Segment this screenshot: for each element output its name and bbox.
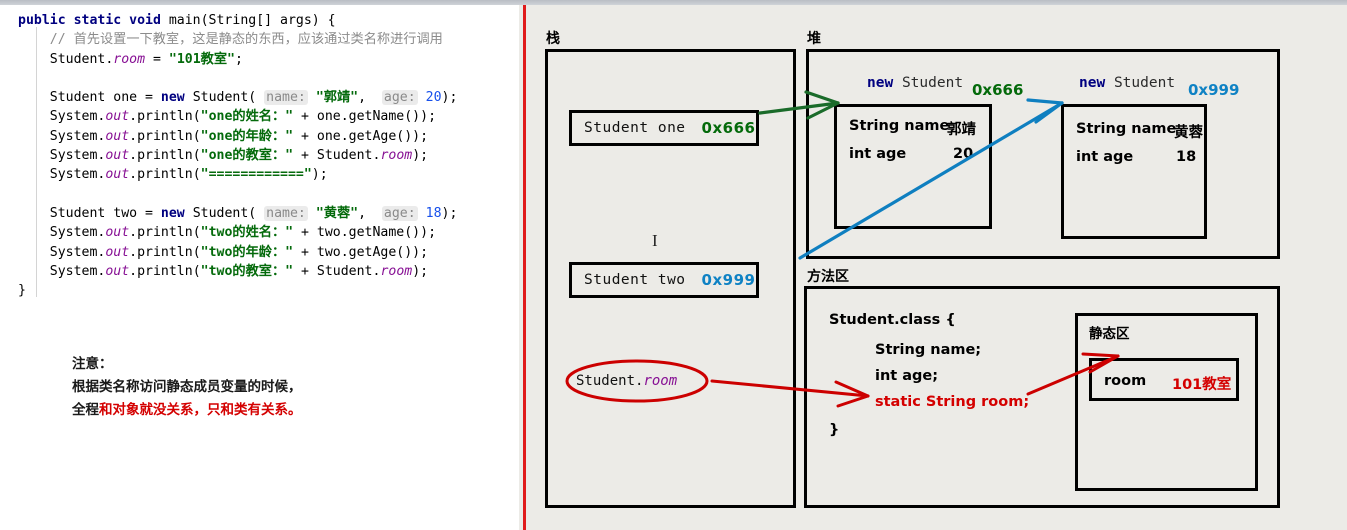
class-declaration: Student.class { xyxy=(829,312,956,328)
code-token: name: xyxy=(264,206,308,221)
code-token: .println( xyxy=(129,264,200,279)
code-token: "one的教室：" xyxy=(201,148,293,163)
code-token: Student one = xyxy=(18,90,161,105)
class-member-name: String name; xyxy=(875,342,981,358)
code-line[interactable]: System.out.println("two的年龄：" + two.getAg… xyxy=(18,243,518,262)
code-token: = xyxy=(145,52,169,67)
code-token: ); xyxy=(312,167,328,182)
code-token: out xyxy=(105,148,129,163)
code-token: .println( xyxy=(129,129,200,144)
code-token: out xyxy=(105,225,129,240)
code-token: out xyxy=(105,167,129,182)
code-token: "101教室" xyxy=(169,52,235,67)
code-token xyxy=(308,206,316,221)
code-token: System. xyxy=(18,129,105,144)
note-title: 注意： xyxy=(72,353,302,376)
stack-zone-label: 栈 xyxy=(546,28,560,48)
heap-obj-1-new-label: new Student xyxy=(867,75,963,91)
code-token: + one.getAge()); xyxy=(293,129,428,144)
heap-obj-2-new-label: new Student xyxy=(1079,75,1175,91)
stack-var-two-name: Student two xyxy=(584,272,686,288)
code-token: "黄蓉" xyxy=(316,206,358,221)
code-token: System. xyxy=(18,109,105,124)
code-token: "============" xyxy=(201,167,312,182)
heap-obj-2-address: 0x999 xyxy=(1188,81,1239,99)
code-token: .println( xyxy=(129,225,200,240)
code-token: System. xyxy=(18,225,105,240)
note-line-2: 根据类名称访问静态成员变量的时候， xyxy=(72,376,302,399)
code-line[interactable]: System.out.println("============"); xyxy=(18,165,518,184)
code-token: System. xyxy=(18,245,105,260)
code-token: out xyxy=(105,129,129,144)
class-close-brace: } xyxy=(829,422,839,438)
code-line[interactable] xyxy=(18,185,518,204)
code-token: out xyxy=(105,109,129,124)
code-token xyxy=(418,206,426,221)
code-token: "郭靖" xyxy=(316,90,358,105)
code-token: ; xyxy=(235,52,243,67)
code-token: .println( xyxy=(129,109,200,124)
code-token: 20 xyxy=(426,90,442,105)
code-token: Student two = xyxy=(18,206,161,221)
heap-obj-2-field-2-value: 18 xyxy=(1176,149,1196,165)
code-line[interactable]: System.out.println("one的年龄：" + one.getAg… xyxy=(18,127,518,146)
note-line-3-black: 全程 xyxy=(72,402,99,418)
stack-var-one: Student one 0x666 xyxy=(569,110,759,146)
code-token: ); xyxy=(412,148,428,163)
code-token: room xyxy=(380,148,412,163)
code-token: out xyxy=(105,264,129,279)
code-token: 18 xyxy=(426,206,442,221)
code-token: .println( xyxy=(129,148,200,163)
code-token: Student( xyxy=(193,90,264,105)
code-token: + two.getAge()); xyxy=(293,245,428,260)
text-cursor-icon: I xyxy=(652,231,658,251)
code-token: age: xyxy=(382,90,418,105)
code-token: out xyxy=(105,245,129,260)
code-token: room xyxy=(113,52,145,67)
static-room-value: 101教室 xyxy=(1172,373,1231,394)
code-token xyxy=(308,90,316,105)
code-token: "two的教室：" xyxy=(201,264,293,279)
heap-obj-1-new-kw: new xyxy=(867,75,893,91)
code-token: + one.getName()); xyxy=(293,109,436,124)
code-token: Student. xyxy=(18,52,113,67)
code-token: public xyxy=(18,13,74,28)
code-token xyxy=(418,90,426,105)
code-token: new xyxy=(161,206,193,221)
code-token: ); xyxy=(442,90,458,105)
code-line[interactable]: // 首先设置一下教室，这是静态的东西，应该通过类名称进行调用 xyxy=(18,30,518,49)
code-token: "two的姓名：" xyxy=(201,225,293,240)
note-line-3: 全程和对象就没关系，只和类有关系。 xyxy=(72,399,302,422)
code-token: .println( xyxy=(129,245,200,260)
screenshot-root: public static void main(String[] args) {… xyxy=(0,0,1347,530)
heap-obj-1-field-2-value: 20 xyxy=(953,146,973,162)
code-token: ); xyxy=(412,264,428,279)
static-room-slot: room 101教室 xyxy=(1089,358,1239,401)
heap-obj-2-field-1-value: 黄蓉 xyxy=(1174,121,1203,142)
source-code[interactable]: public static void main(String[] args) {… xyxy=(18,11,518,300)
code-line[interactable]: Student one = new Student( name: "郭靖", a… xyxy=(18,88,518,107)
heap-obj-2-new-type: Student xyxy=(1114,75,1175,91)
heap-obj-1-field-1-value: 郭靖 xyxy=(947,118,976,139)
stack-var-one-address: 0x666 xyxy=(702,119,756,137)
code-line[interactable]: System.out.println("one的教室：" + Student.r… xyxy=(18,146,518,165)
heap-zone-label: 堆 xyxy=(807,28,821,48)
code-token: "one的姓名：" xyxy=(201,109,293,124)
code-token: room xyxy=(380,264,412,279)
code-token: "two的年龄：" xyxy=(201,245,293,260)
heap-obj-2-new-kw: new xyxy=(1079,75,1105,91)
code-line[interactable]: public static void main(String[] args) { xyxy=(18,11,518,30)
code-line[interactable]: Student.room = "101教室"; xyxy=(18,50,518,69)
code-token: , xyxy=(358,90,382,105)
static-access-label: Student.room xyxy=(576,373,677,389)
note-line-3-red: 和对象就没关系，只和类有关系。 xyxy=(99,402,302,418)
method-area-zone-label: 方法区 xyxy=(807,266,849,286)
stack-var-one-name: Student one xyxy=(584,120,686,136)
code-token: main(String[] args) { xyxy=(169,13,336,28)
code-token: // 首先设置一下教室，这是静态的东西，应该通过类名称进行调用 xyxy=(50,32,443,47)
heap-object-2: String name 黄蓉 int age 18 xyxy=(1061,104,1207,239)
code-token: , xyxy=(358,206,382,221)
code-line[interactable]: System.out.println("one的姓名：" + one.getNa… xyxy=(18,107,518,126)
code-token: new xyxy=(161,90,193,105)
code-token: + two.getName()); xyxy=(293,225,436,240)
code-token: "one的年龄：" xyxy=(201,129,293,144)
code-token: + Student. xyxy=(293,264,380,279)
code-token: System. xyxy=(18,264,105,279)
code-token: System. xyxy=(18,167,105,182)
code-token: } xyxy=(18,283,26,298)
code-line[interactable]: Student two = new Student( name: "黄蓉", a… xyxy=(18,204,518,223)
static-access-prefix: Student. xyxy=(576,373,643,389)
memory-diagram-pane: 栈 Student one 0x666 Student two 0x999 St… xyxy=(526,5,1347,530)
code-line[interactable] xyxy=(18,69,518,88)
code-token: age: xyxy=(382,206,418,221)
stack-var-two-address: 0x999 xyxy=(702,271,756,289)
code-line[interactable]: System.out.println("two的姓名：" + two.getNa… xyxy=(18,223,518,242)
static-access-field: room xyxy=(643,373,677,389)
heap-obj-2-field-1-name: String name xyxy=(1076,121,1176,137)
heap-obj-2-field-2-name: int age xyxy=(1076,149,1133,165)
heap-obj-1-field-1-name: String name xyxy=(849,118,949,134)
code-token: static xyxy=(74,13,130,28)
heap-obj-1-address: 0x666 xyxy=(972,81,1023,99)
code-token xyxy=(18,32,50,47)
heap-obj-1-new-type: Student xyxy=(902,75,963,91)
static-room-key: room xyxy=(1104,373,1146,389)
static-zone-label: 静态区 xyxy=(1089,322,1130,342)
code-editor-pane[interactable]: public static void main(String[] args) {… xyxy=(0,5,519,530)
code-token: System. xyxy=(18,148,105,163)
code-line[interactable]: System.out.println("two的教室：" + Student.r… xyxy=(18,262,518,281)
code-token: ); xyxy=(442,206,458,221)
note-block: 注意： 根据类名称访问静态成员变量的时候， 全程和对象就没关系，只和类有关系。 xyxy=(72,353,302,422)
stack-var-two: Student two 0x999 xyxy=(569,262,759,298)
code-token: void xyxy=(129,13,169,28)
code-token: + Student. xyxy=(293,148,380,163)
heap-object-1: String name 郭靖 int age 20 xyxy=(834,104,992,229)
class-member-age: int age; xyxy=(875,368,938,384)
heap-obj-1-field-2-name: int age xyxy=(849,146,906,162)
class-member-static-room: static String room; xyxy=(875,394,1029,410)
code-token: name: xyxy=(264,90,308,105)
code-token: .println( xyxy=(129,167,200,182)
code-line[interactable]: } xyxy=(18,281,518,300)
code-token: Student( xyxy=(193,206,264,221)
